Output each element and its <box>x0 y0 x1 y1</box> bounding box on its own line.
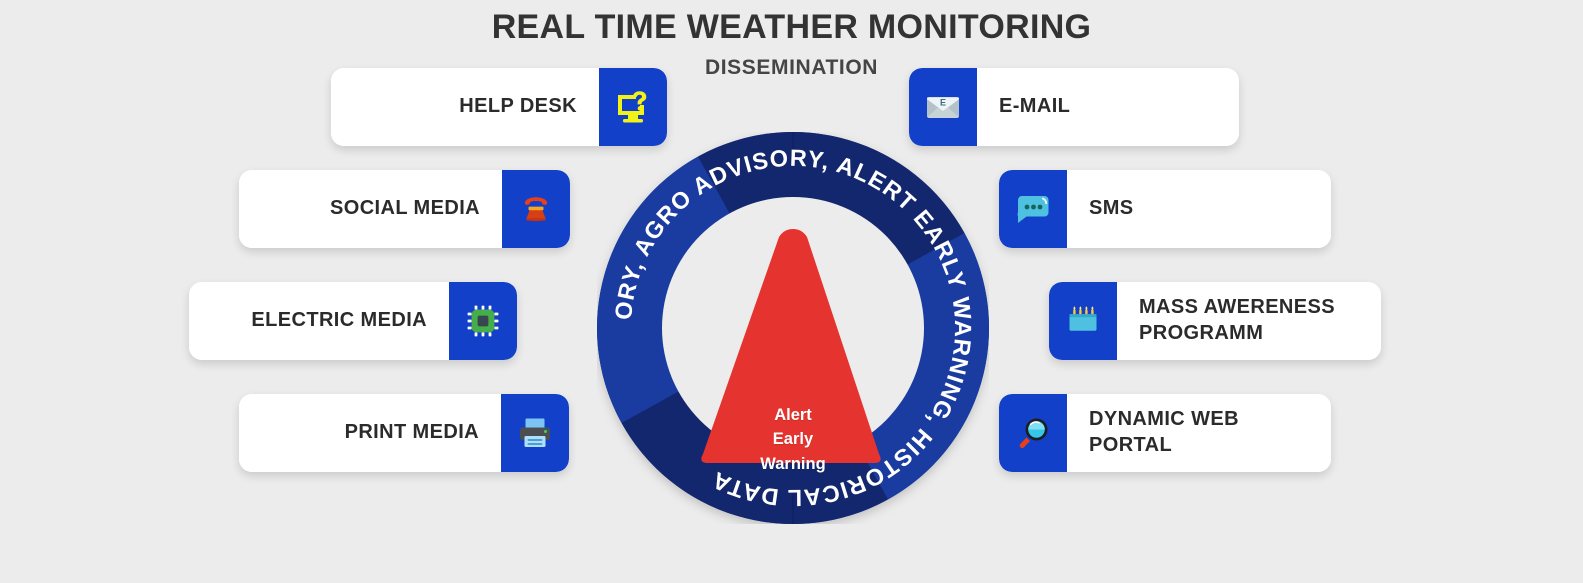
card-label: SMS <box>1089 196 1134 222</box>
card-body: HELP DESK <box>331 68 599 146</box>
card-body: MASS AWERENESSPROGRAMM <box>1117 282 1381 360</box>
card-label: E-MAIL <box>999 94 1070 120</box>
card-label: ELECTRIC MEDIA <box>251 308 427 334</box>
page-subtitle: DISSEMINATION <box>0 56 1583 80</box>
channel-card-email[interactable]: E E-MAIL <box>909 68 1239 146</box>
card-body: DYNAMIC WEBPORTAL <box>1067 394 1331 472</box>
card-body: E-MAIL <box>977 68 1239 146</box>
card-body: PRINT MEDIA <box>239 394 501 472</box>
channel-card-social-media[interactable]: SOCIAL MEDIA <box>239 170 570 248</box>
card-body: SMS <box>1067 170 1331 248</box>
magnifier-icon <box>999 394 1067 472</box>
printer-icon <box>501 394 569 472</box>
infographic-canvas: REAL TIME WEATHER MONITORING DISSEMINATI… <box>0 0 1583 583</box>
card-label: MASS AWERENESSPROGRAMM <box>1139 295 1335 346</box>
speech-bubble-icon <box>999 170 1067 248</box>
card-label: HELP DESK <box>459 94 577 120</box>
dissemination-wheel: WEATHER RELATED ADVISORY, AGRO ADVISORY,… <box>597 132 989 524</box>
card-label: SOCIAL MEDIA <box>330 196 480 222</box>
channel-card-sms[interactable]: SMS <box>999 170 1331 248</box>
microchip-icon <box>449 282 517 360</box>
channel-card-print-media[interactable]: PRINT MEDIA <box>239 394 569 472</box>
telephone-icon <box>502 170 570 248</box>
help-desk-monitor-icon <box>599 68 667 146</box>
card-body: ELECTRIC MEDIA <box>189 282 449 360</box>
channel-card-electric-media[interactable]: ELECTRIC MEDIA <box>189 282 517 360</box>
awareness-event-icon <box>1049 282 1117 360</box>
svg-text:E: E <box>940 98 946 108</box>
channel-card-mass-awareness[interactable]: MASS AWERENESSPROGRAMM <box>1049 282 1381 360</box>
envelope-icon: E <box>909 68 977 146</box>
card-body: SOCIAL MEDIA <box>239 170 502 248</box>
card-label: DYNAMIC WEBPORTAL <box>1089 407 1239 458</box>
channel-card-help-desk[interactable]: HELP DESK <box>331 68 667 146</box>
card-label: PRINT MEDIA <box>345 420 479 446</box>
page-title: REAL TIME WEATHER MONITORING <box>0 8 1583 47</box>
channel-card-dynamic-web-portal[interactable]: DYNAMIC WEBPORTAL <box>999 394 1331 472</box>
